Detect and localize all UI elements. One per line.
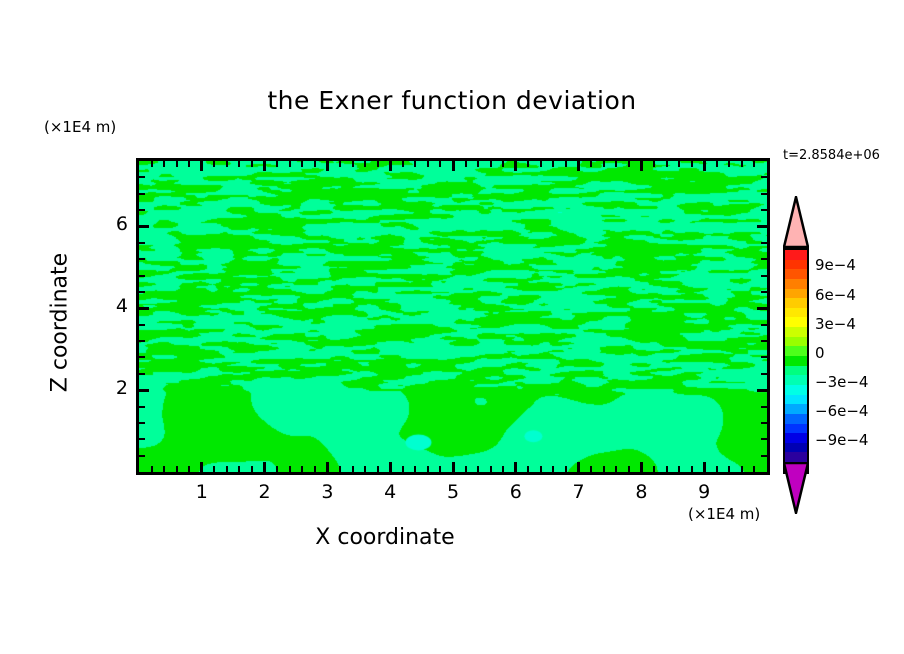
colorbar-tick-label: 0 bbox=[815, 344, 825, 362]
x-major-tick bbox=[326, 462, 329, 472]
y-major-tick bbox=[139, 225, 149, 228]
y-tick-label: 4 bbox=[104, 295, 128, 317]
x-minor-tick-top bbox=[276, 161, 278, 167]
x-minor-tick bbox=[352, 466, 354, 472]
colorbar-band bbox=[785, 395, 807, 405]
y-minor-tick-right bbox=[761, 455, 767, 457]
y-minor-tick-right bbox=[761, 373, 767, 375]
y-minor-tick-right bbox=[761, 176, 767, 178]
colorbar-band bbox=[785, 385, 807, 395]
y-minor-tick bbox=[139, 176, 145, 178]
x-minor-tick bbox=[552, 466, 554, 472]
x-minor-tick-top bbox=[352, 161, 354, 167]
x-minor-tick-top bbox=[226, 161, 228, 167]
x-minor-tick bbox=[213, 466, 215, 472]
colorbar-band bbox=[785, 250, 807, 260]
x-minor-tick bbox=[427, 466, 429, 472]
x-minor-tick bbox=[527, 466, 529, 472]
x-minor-tick bbox=[502, 466, 504, 472]
x-major-tick bbox=[703, 462, 706, 472]
y-minor-tick-right bbox=[761, 356, 767, 358]
y-minor-tick-right bbox=[761, 291, 767, 293]
colorbar-band bbox=[785, 317, 807, 327]
colorbar-tick-label: −6e−4 bbox=[815, 402, 868, 420]
x-tick-label: 4 bbox=[378, 481, 402, 503]
x-minor-tick-top bbox=[289, 161, 291, 167]
y-minor-tick-right bbox=[761, 324, 767, 326]
colorbar-overflow-arrow-icon bbox=[783, 196, 809, 248]
x-tick-label: 7 bbox=[567, 481, 591, 503]
x-minor-tick bbox=[728, 466, 730, 472]
y-minor-tick-right bbox=[761, 193, 767, 195]
y-minor-tick bbox=[139, 340, 145, 342]
colorbar-band bbox=[785, 289, 807, 299]
x-major-tick bbox=[577, 462, 580, 472]
x-minor-tick bbox=[590, 466, 592, 472]
colorbar-band bbox=[785, 404, 807, 414]
y-major-tick bbox=[139, 389, 149, 392]
y-minor-tick bbox=[139, 455, 145, 457]
x-minor-tick-top bbox=[188, 161, 190, 167]
x-major-tick-top bbox=[514, 161, 517, 171]
colorbar-underflow-arrow-icon bbox=[783, 462, 809, 514]
x-minor-tick-top bbox=[728, 161, 730, 167]
y-minor-tick-right bbox=[761, 340, 767, 342]
y-minor-tick bbox=[139, 356, 145, 358]
x-minor-tick bbox=[226, 466, 228, 472]
y-minor-tick bbox=[139, 242, 145, 244]
x-minor-tick bbox=[653, 466, 655, 472]
y-major-tick-right bbox=[757, 225, 767, 228]
x-minor-tick-top bbox=[465, 161, 467, 167]
x-major-tick bbox=[389, 462, 392, 472]
x-minor-tick-top bbox=[753, 161, 755, 167]
x-minor-tick-top bbox=[213, 161, 215, 167]
colorbar-band bbox=[785, 424, 807, 434]
y-minor-tick bbox=[139, 406, 145, 408]
x-tick-label: 3 bbox=[315, 481, 339, 503]
contour-plot-area bbox=[136, 158, 770, 475]
x-major-tick bbox=[452, 462, 455, 472]
colorbar-band bbox=[785, 443, 807, 453]
x-tick-label: 9 bbox=[692, 481, 716, 503]
y-minor-tick-right bbox=[761, 209, 767, 211]
x-minor-tick bbox=[339, 466, 341, 472]
colorbar: 9e−46e−43e−40−3e−4−6e−4−9e−4 bbox=[779, 196, 813, 514]
y-minor-tick bbox=[139, 193, 145, 195]
x-minor-tick-top bbox=[402, 161, 404, 167]
x-minor-tick bbox=[565, 466, 567, 472]
x-major-tick bbox=[263, 462, 266, 472]
page-title: the Exner function deviation bbox=[0, 86, 904, 115]
x-minor-tick-top bbox=[741, 161, 743, 167]
x-minor-tick bbox=[628, 466, 630, 472]
colorbar-band bbox=[785, 260, 807, 270]
x-minor-tick-top bbox=[552, 161, 554, 167]
x-tick-label: 2 bbox=[253, 481, 277, 503]
x-minor-tick-top bbox=[590, 161, 592, 167]
colorbar-band bbox=[785, 433, 807, 443]
y-axis-title: Z coordinate bbox=[48, 203, 73, 443]
colorbar-band bbox=[785, 269, 807, 279]
x-minor-tick-top bbox=[490, 161, 492, 167]
colorbar-band bbox=[785, 356, 807, 366]
x-major-tick bbox=[200, 462, 203, 472]
x-minor-tick-top bbox=[615, 161, 617, 167]
y-major-tick-right bbox=[757, 307, 767, 310]
colorbar-tick-label: 6e−4 bbox=[815, 286, 856, 304]
x-minor-tick-top bbox=[716, 161, 718, 167]
x-tick-label: 6 bbox=[504, 481, 528, 503]
x-minor-tick bbox=[414, 466, 416, 472]
x-tick-label: 8 bbox=[629, 481, 653, 503]
x-minor-tick-top bbox=[439, 161, 441, 167]
colorbar-band bbox=[785, 414, 807, 424]
x-minor-tick-top bbox=[251, 161, 253, 167]
x-minor-tick-top bbox=[502, 161, 504, 167]
x-minor-tick bbox=[188, 466, 190, 472]
colorbar-band bbox=[785, 375, 807, 385]
x-minor-tick-top bbox=[301, 161, 303, 167]
x-minor-tick bbox=[151, 466, 153, 472]
contour-field bbox=[139, 161, 767, 472]
x-minor-tick-top bbox=[163, 161, 165, 167]
x-minor-tick-top bbox=[628, 161, 630, 167]
y-minor-tick bbox=[139, 275, 145, 277]
y-minor-tick bbox=[139, 258, 145, 260]
x-major-tick-top bbox=[452, 161, 455, 171]
y-minor-tick bbox=[139, 209, 145, 211]
x-minor-tick-top bbox=[527, 161, 529, 167]
x-minor-tick-top bbox=[477, 161, 479, 167]
x-minor-tick bbox=[176, 466, 178, 472]
x-minor-tick bbox=[301, 466, 303, 472]
x-minor-tick-top bbox=[238, 161, 240, 167]
colorbar-band bbox=[785, 366, 807, 376]
x-minor-tick-top bbox=[427, 161, 429, 167]
x-minor-tick-top bbox=[666, 161, 668, 167]
x-minor-tick-top bbox=[603, 161, 605, 167]
x-minor-tick-top bbox=[339, 161, 341, 167]
y-minor-tick-right bbox=[761, 422, 767, 424]
y-major-tick bbox=[139, 307, 149, 310]
y-minor-tick-right bbox=[761, 275, 767, 277]
x-minor-tick bbox=[477, 466, 479, 472]
x-major-tick bbox=[514, 462, 517, 472]
x-minor-tick bbox=[251, 466, 253, 472]
x-minor-tick-top bbox=[565, 161, 567, 167]
x-minor-tick-top bbox=[414, 161, 416, 167]
x-major-tick-top bbox=[640, 161, 643, 171]
x-minor-tick bbox=[314, 466, 316, 472]
colorbar-band bbox=[785, 452, 807, 462]
y-minor-tick bbox=[139, 291, 145, 293]
y-minor-tick bbox=[139, 324, 145, 326]
x-major-tick-top bbox=[577, 161, 580, 171]
y-axis-unit-label: (×1E4 m) bbox=[44, 118, 116, 136]
x-minor-tick bbox=[615, 466, 617, 472]
timestamp-annotation: t=2.8584e+06 bbox=[783, 148, 880, 163]
colorbar-tick-label: 9e−4 bbox=[815, 256, 856, 274]
x-minor-tick bbox=[238, 466, 240, 472]
x-axis-unit-label: (×1E4 m) bbox=[688, 505, 760, 523]
x-minor-tick-top bbox=[176, 161, 178, 167]
x-minor-tick-top bbox=[540, 161, 542, 167]
y-minor-tick bbox=[139, 422, 145, 424]
y-major-tick-right bbox=[757, 389, 767, 392]
x-minor-tick-top bbox=[364, 161, 366, 167]
x-minor-tick-top bbox=[653, 161, 655, 167]
x-minor-tick bbox=[402, 466, 404, 472]
x-tick-label: 5 bbox=[441, 481, 465, 503]
x-minor-tick bbox=[741, 466, 743, 472]
x-minor-tick bbox=[377, 466, 379, 472]
colorbar-tick-label: −9e−4 bbox=[815, 431, 868, 449]
y-tick-label: 2 bbox=[104, 377, 128, 399]
x-tick-label: 1 bbox=[190, 481, 214, 503]
x-minor-tick-top bbox=[377, 161, 379, 167]
x-major-tick-top bbox=[200, 161, 203, 171]
x-major-tick-top bbox=[389, 161, 392, 171]
x-minor-tick-top bbox=[151, 161, 153, 167]
x-major-tick-top bbox=[263, 161, 266, 171]
x-minor-tick bbox=[691, 466, 693, 472]
x-minor-tick bbox=[276, 466, 278, 472]
colorbar-tick-label: −3e−4 bbox=[815, 373, 868, 391]
x-minor-tick bbox=[603, 466, 605, 472]
colorbar-band bbox=[785, 308, 807, 318]
colorbar-band bbox=[785, 346, 807, 356]
y-tick-label: 6 bbox=[104, 213, 128, 235]
colorbar-band bbox=[785, 337, 807, 347]
colorbar-tick-label: 3e−4 bbox=[815, 315, 856, 333]
x-minor-tick bbox=[716, 466, 718, 472]
x-minor-tick bbox=[364, 466, 366, 472]
x-major-tick-top bbox=[326, 161, 329, 171]
x-minor-tick bbox=[465, 466, 467, 472]
x-minor-tick-top bbox=[314, 161, 316, 167]
y-minor-tick bbox=[139, 438, 145, 440]
y-minor-tick-right bbox=[761, 242, 767, 244]
x-minor-tick bbox=[289, 466, 291, 472]
x-minor-tick bbox=[666, 466, 668, 472]
x-minor-tick bbox=[678, 466, 680, 472]
x-minor-tick-top bbox=[678, 161, 680, 167]
x-axis-title: X coordinate bbox=[0, 525, 770, 550]
y-minor-tick-right bbox=[761, 406, 767, 408]
colorbar-bands bbox=[783, 248, 809, 474]
colorbar-band bbox=[785, 298, 807, 308]
x-major-tick-top bbox=[703, 161, 706, 171]
x-major-tick bbox=[640, 462, 643, 472]
x-minor-tick bbox=[163, 466, 165, 472]
x-minor-tick-top bbox=[691, 161, 693, 167]
x-minor-tick bbox=[753, 466, 755, 472]
y-minor-tick bbox=[139, 373, 145, 375]
x-minor-tick bbox=[540, 466, 542, 472]
y-minor-tick-right bbox=[761, 258, 767, 260]
y-minor-tick-right bbox=[761, 438, 767, 440]
colorbar-band bbox=[785, 279, 807, 289]
colorbar-band bbox=[785, 327, 807, 337]
x-minor-tick bbox=[439, 466, 441, 472]
x-minor-tick bbox=[490, 466, 492, 472]
